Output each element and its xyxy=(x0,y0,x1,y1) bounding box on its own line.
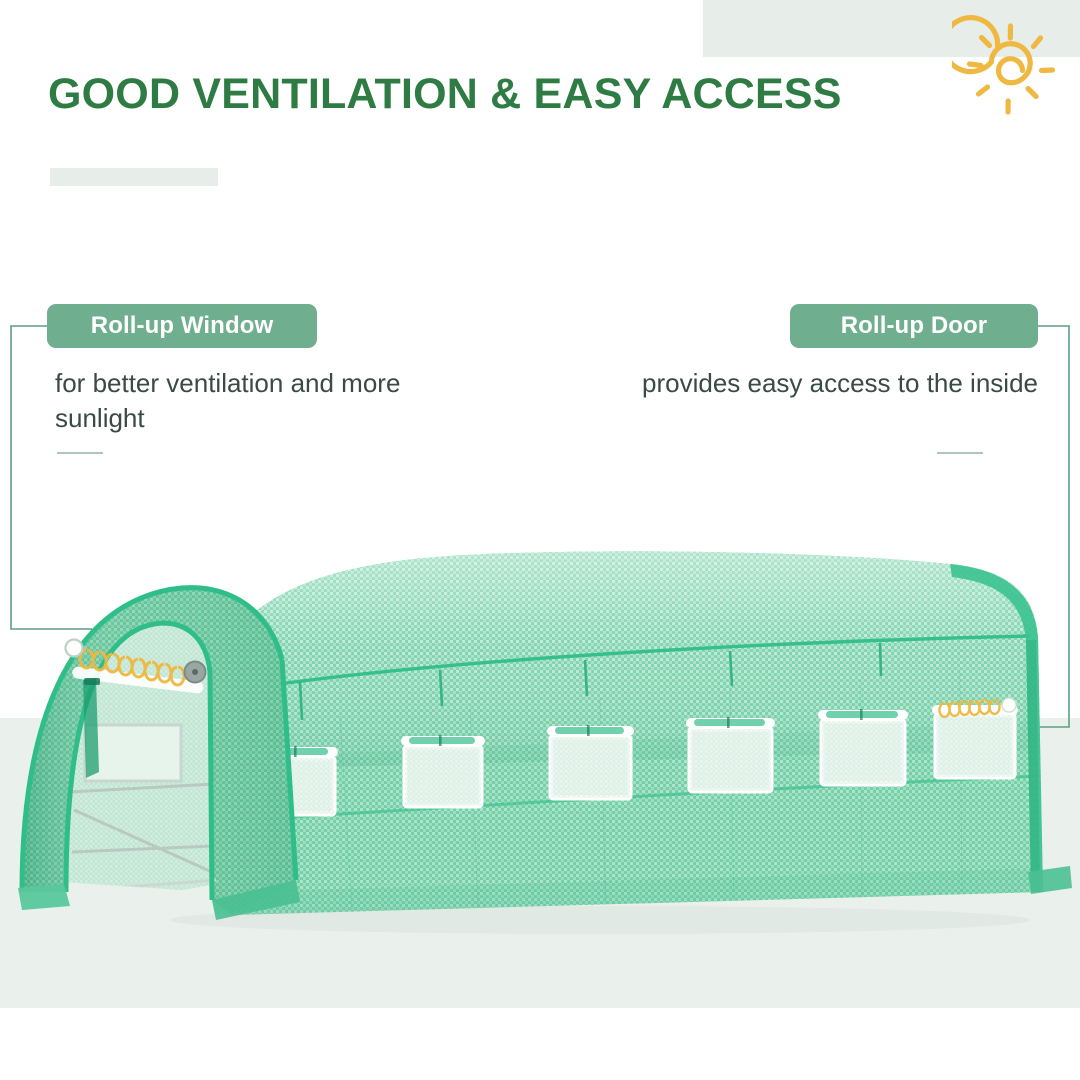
page-title: GOOD VENTILATION & EASY ACCESS xyxy=(48,73,842,116)
callout-rule-left xyxy=(57,452,103,454)
sun-spiral-icon xyxy=(952,14,1064,126)
interior-window-panel xyxy=(85,725,181,781)
callout-badge-roll-up-door[interactable]: Roll-up Door xyxy=(790,304,1038,348)
roll-up-window[interactable] xyxy=(547,725,634,798)
roll-up-window[interactable] xyxy=(686,717,775,791)
title-underline-block xyxy=(50,168,218,186)
greenhouse-illustration xyxy=(0,520,1080,950)
door-tie-ring xyxy=(66,640,83,657)
callout-description-roll-up-window: for better ventilation and more sunlight xyxy=(55,366,475,435)
callout-badge-roll-up-window[interactable]: Roll-up Window xyxy=(47,304,317,348)
callout-rule-right xyxy=(937,452,983,454)
callout-description-roll-up-door: provides easy access to the inside xyxy=(640,366,1038,401)
infographic-canvas: GOOD VENTILATION & EASY ACCESS Roll-up W… xyxy=(0,0,1080,1080)
roll-up-window[interactable] xyxy=(401,735,485,806)
contact-shadow xyxy=(170,906,1030,934)
roll-up-window[interactable] xyxy=(932,698,1018,777)
front-arch xyxy=(18,588,300,920)
roll-up-window[interactable] xyxy=(818,709,908,784)
